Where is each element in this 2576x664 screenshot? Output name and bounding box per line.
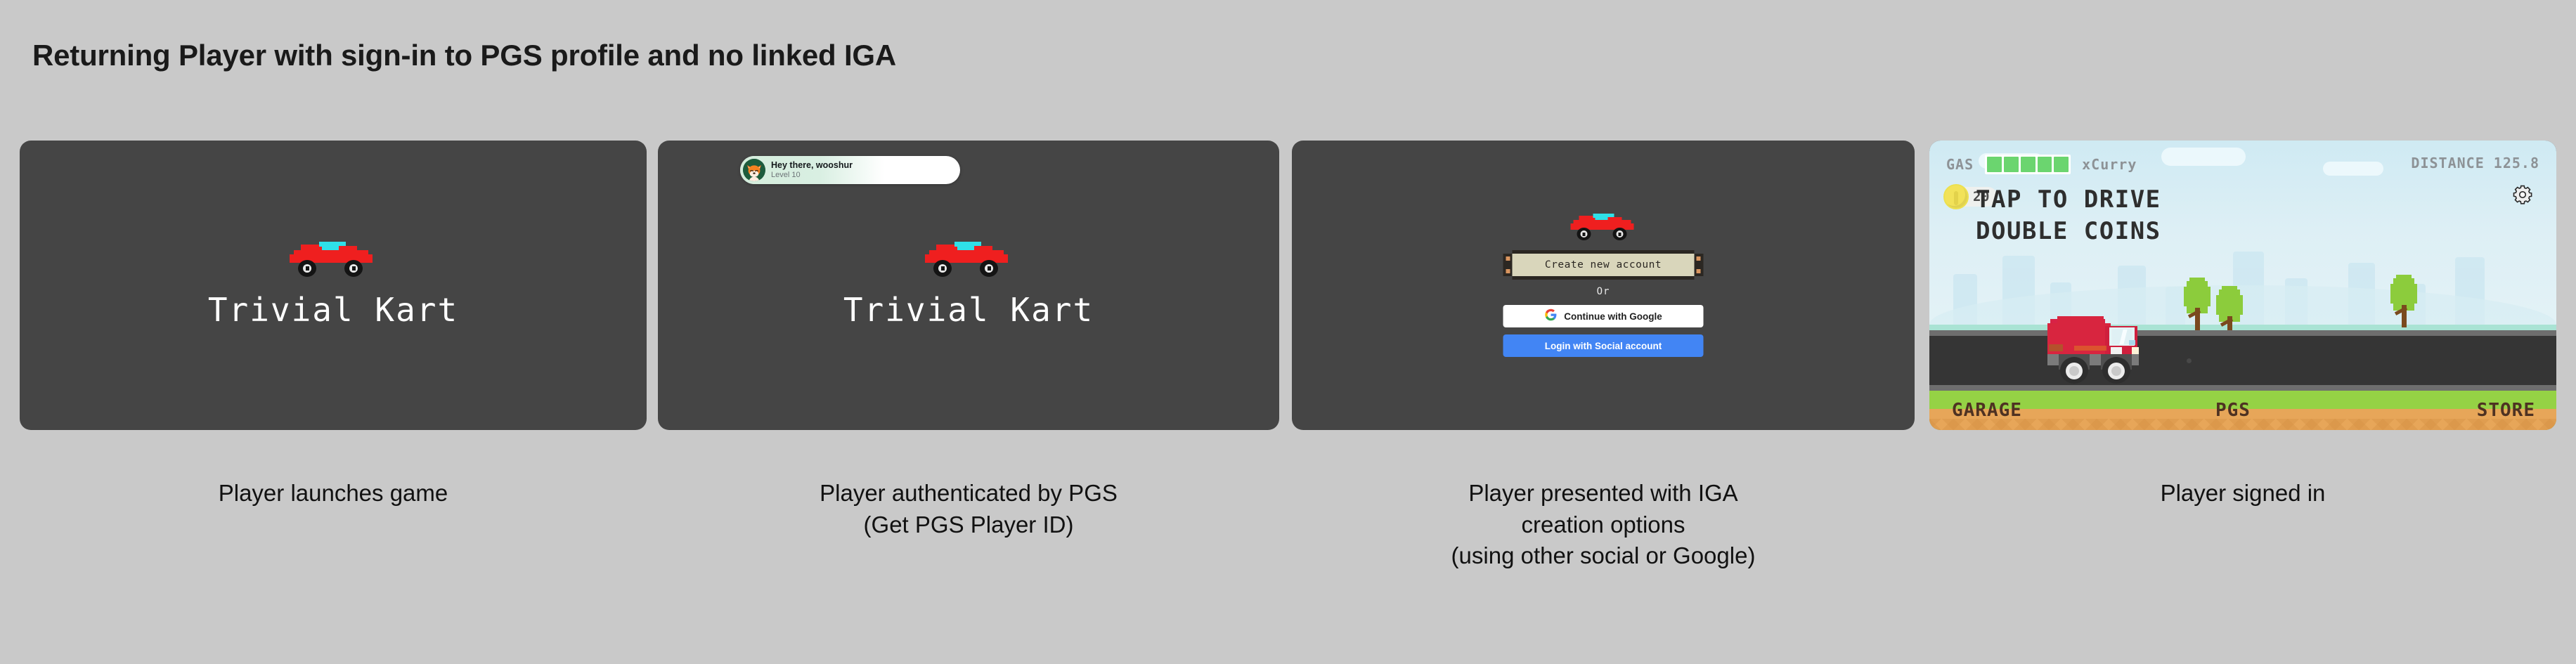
tap-message-line-1: TAP TO DRIVE — [1976, 184, 2161, 216]
gas-segment — [2004, 157, 2019, 172]
panel-caption: Player launches game — [20, 478, 647, 509]
iga-options-stack: Create new account Or Continue with Goog… — [1503, 214, 1704, 357]
login-with-social-account-button[interactable]: Login with Social account — [1503, 334, 1704, 357]
caption-line: Player presented with IGA — [1292, 478, 1915, 509]
road-edge-bottom — [1929, 385, 2556, 391]
splash-stack: Trivial Kart — [20, 242, 647, 329]
distance-readout: DISTANCE 125.8 — [2411, 155, 2539, 171]
panel-player-signed-in: GAS xCurry DISTANCE 125.8 — [1929, 141, 2556, 430]
player-truck-sprite — [2047, 313, 2153, 384]
panel-iga-creation-options: Create new account Or Continue with Goog… — [1292, 141, 1915, 430]
or-divider-label: Or — [1597, 286, 1610, 297]
panel-caption: Player signed in — [1929, 478, 2556, 509]
gas-meter — [1985, 155, 2071, 174]
nav-item-store[interactable]: STORE — [2477, 400, 2535, 421]
nav-item-pgs[interactable]: PGS — [2215, 400, 2251, 421]
tap-to-drive-message[interactable]: TAP TO DRIVE DOUBLE COINS — [1976, 184, 2161, 247]
pixel-car-icon — [924, 242, 1014, 278]
city-skyline — [1929, 240, 2556, 325]
gas-segment — [2038, 157, 2052, 172]
tap-message-line-2: DOUBLE COINS — [1976, 216, 2161, 247]
cloud-shape — [2323, 162, 2383, 176]
panel-caption: Player presented with IGA creation optio… — [1292, 478, 1915, 572]
continue-with-google-label: Continue with Google — [1564, 311, 1662, 322]
caption-line: Player authenticated by PGS — [658, 478, 1279, 509]
toast-greeting: Hey there, wooshur — [771, 160, 853, 170]
player-username: xCurry — [2082, 156, 2137, 173]
pgs-welcome-toast[interactable]: Hey there, wooshur Level 10 — [740, 156, 960, 184]
caption-line: Player signed in — [1929, 478, 2556, 509]
fox-avatar-icon — [743, 159, 765, 181]
cloud-shape — [2161, 148, 2246, 166]
splash-stack: Trivial Kart — [658, 242, 1279, 329]
nav-item-garage[interactable]: GARAGE — [1952, 400, 2022, 421]
coin-icon — [1943, 184, 1969, 209]
hud-top-left: GAS xCurry — [1946, 155, 2137, 174]
game-scene: GAS xCurry DISTANCE 125.8 — [1929, 141, 2556, 430]
page-title: Returning Player with sign-in to PGS pro… — [32, 39, 896, 72]
panel-player-launches-game: Trivial Kart — [20, 141, 647, 430]
caption-line: (using other social or Google) — [1292, 540, 1915, 572]
create-new-account-button[interactable]: Create new account — [1503, 250, 1704, 280]
gas-segment — [2054, 157, 2069, 172]
login-with-social-account-label: Login with Social account — [1545, 341, 1662, 351]
gas-segment — [2021, 157, 2035, 172]
panel-caption: Player authenticated by PGS (Get PGS Pla… — [658, 478, 1279, 540]
gas-segment — [1987, 157, 2002, 172]
button-frame-bottom — [1513, 276, 1695, 280]
button-stud-icon — [1506, 269, 1510, 273]
road-marking — [2187, 358, 2192, 363]
button-stud-icon — [1697, 256, 1701, 261]
caption-line: (Get PGS Player ID) — [658, 509, 1279, 541]
toast-level: Level 10 — [771, 171, 853, 180]
caption-line: Player launches game — [20, 478, 647, 509]
game-title: Trivial Kart — [843, 291, 1094, 329]
gear-icon[interactable] — [2512, 184, 2533, 209]
create-new-account-label: Create new account — [1545, 259, 1662, 271]
google-logo-icon — [1544, 308, 1557, 325]
button-face: Create new account — [1513, 254, 1695, 276]
road-edge-top — [1929, 330, 2556, 336]
road-surface — [1929, 336, 2556, 385]
pixel-car-icon — [288, 242, 378, 278]
game-title: Trivial Kart — [208, 291, 458, 329]
caption-line: creation options — [1292, 509, 1915, 541]
button-stud-icon — [1506, 256, 1510, 261]
button-stud-icon — [1697, 269, 1701, 273]
pixel-car-icon — [1569, 214, 1638, 242]
panel-player-authenticated-by-pgs: Hey there, wooshur Level 10 Trivial Kart — [658, 141, 1279, 430]
toast-text: Hey there, wooshur Level 10 — [771, 160, 853, 180]
horizon-strip — [1929, 325, 2556, 330]
gas-label: GAS — [1946, 156, 1974, 173]
continue-with-google-button[interactable]: Continue with Google — [1503, 305, 1704, 327]
